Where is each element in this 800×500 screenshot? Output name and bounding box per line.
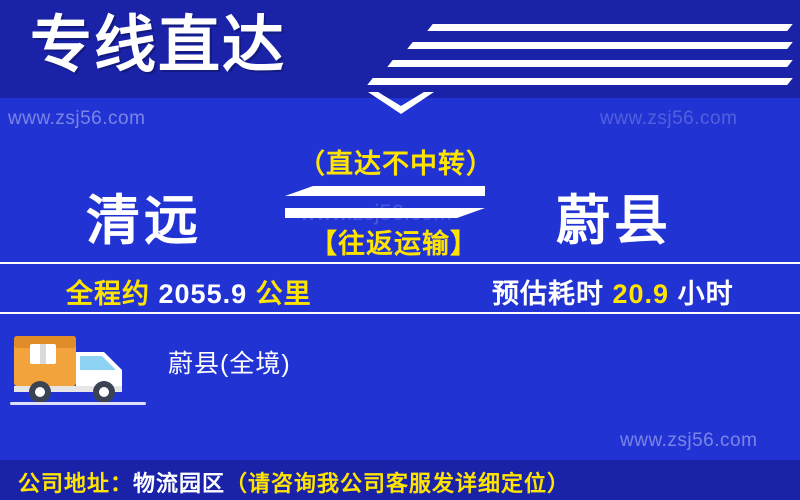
banner-stripe bbox=[367, 78, 792, 85]
banner-stripes bbox=[370, 10, 790, 90]
logistics-poster: 专线直达 www.zsj56.com www.zsj56.com www.zsj… bbox=[0, 0, 800, 500]
top-banner: 专线直达 bbox=[0, 0, 800, 98]
divider-line-bottom bbox=[0, 312, 800, 314]
footer-text: 公司地址：物流园区（请咨询我公司客服发详细定位） bbox=[18, 466, 570, 498]
distance-value: 2055.9 bbox=[159, 279, 248, 309]
footer-address-label: 公司地址： bbox=[18, 471, 133, 496]
distance-unit: 公里 bbox=[256, 279, 312, 309]
banner-stripe bbox=[387, 60, 792, 67]
time-unit: 小时 bbox=[678, 279, 734, 309]
roundtrip-badge: 【往返运输】 bbox=[310, 222, 478, 261]
distance-stat: 全程约 2055.9 公里 bbox=[66, 272, 312, 311]
origin-city: 清远 bbox=[86, 176, 202, 255]
distance-label: 全程约 bbox=[66, 279, 150, 309]
poster-title: 专线直达 bbox=[30, 6, 286, 86]
banner-stripe bbox=[407, 42, 792, 49]
watermark-bottom-right: www.zsj56.com bbox=[620, 430, 757, 452]
watermark-top-right: www.zsj56.com bbox=[600, 108, 737, 130]
time-value: 20.9 bbox=[613, 279, 670, 309]
direct-badge: （直达不中转） bbox=[298, 142, 494, 181]
coverage-label: 蔚县(全境) bbox=[168, 344, 291, 380]
footer-address-value: 物流园区 bbox=[133, 471, 225, 496]
chevron-down-icon bbox=[368, 92, 434, 118]
two-way-arrow-icon bbox=[285, 182, 485, 218]
time-label: 预估耗时 bbox=[492, 279, 604, 309]
banner-stripe bbox=[427, 24, 792, 31]
delivery-truck-icon bbox=[10, 322, 150, 408]
time-stat: 预估耗时 20.9 小时 bbox=[492, 272, 734, 311]
footer-band: 公司地址：物流园区（请咨询我公司客服发详细定位） bbox=[0, 460, 800, 500]
watermark-top-left: www.zsj56.com bbox=[8, 108, 145, 130]
destination-city: 蔚县 bbox=[556, 176, 672, 255]
footer-note: （请咨询我公司客服发详细定位） bbox=[225, 471, 570, 496]
divider-line-top bbox=[0, 262, 800, 264]
